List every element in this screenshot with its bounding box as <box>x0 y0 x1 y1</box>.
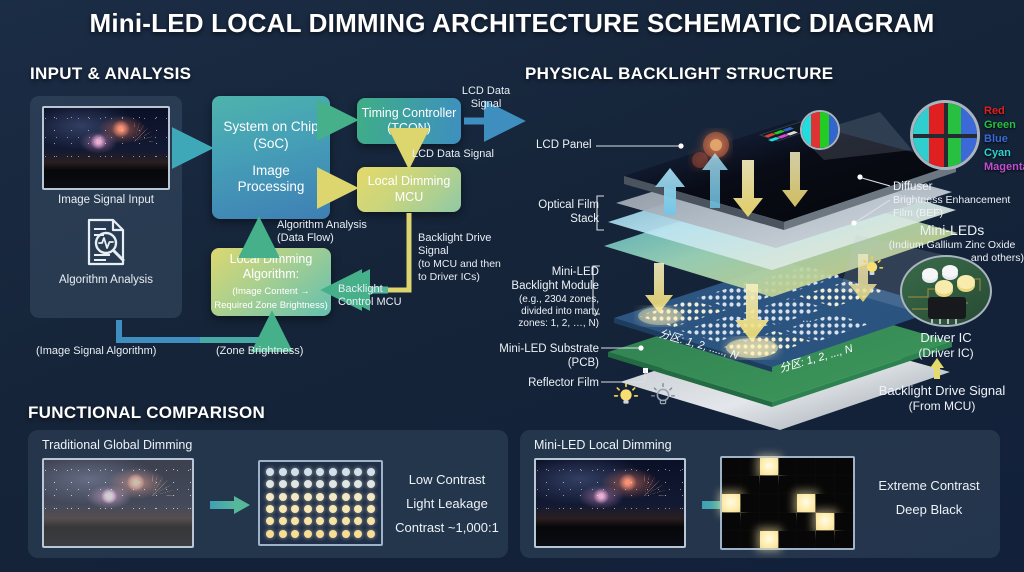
algorithm-analysis-icon <box>78 214 134 270</box>
global-led-dot <box>279 480 287 488</box>
local-led-cell <box>797 494 815 511</box>
lightbulb-on-icon <box>613 382 639 413</box>
local-led-cell <box>797 513 815 530</box>
global-led-dot <box>266 468 274 476</box>
label-reflector-film: Reflector Film <box>513 376 599 390</box>
local-led-cell <box>722 476 740 493</box>
global-led-dot <box>354 505 362 513</box>
local-led-cell <box>760 476 778 493</box>
local-led-cell <box>760 531 778 548</box>
local-led-cell <box>741 494 759 511</box>
local-led-cell <box>797 531 815 548</box>
comparison-title-local: Mini-LED Local Dimming <box>534 438 672 452</box>
global-led-dot <box>279 493 287 501</box>
subpixel-magnifier-large <box>910 100 980 170</box>
global-led-dot <box>266 517 274 525</box>
global-led-dot <box>342 517 350 525</box>
global-led-dot <box>304 480 312 488</box>
global-led-dot <box>291 468 299 476</box>
global-led-dot <box>304 505 312 513</box>
input-analysis-card: Image Signal Input Algorithm Analysis <box>30 96 182 318</box>
diagram-canvas: Mini-LED LOCAL DIMMING ARCHITECTURE SCHE… <box>0 0 1024 572</box>
global-led-dot <box>266 480 274 488</box>
global-led-dot <box>279 517 287 525</box>
global-led-dot <box>316 505 324 513</box>
global-led-dot <box>367 480 375 488</box>
local-led-cell <box>816 476 834 493</box>
global-led-dot <box>342 505 350 513</box>
global-led-dot <box>354 480 362 488</box>
local-led-cell <box>760 458 778 475</box>
page-title: Mini-LED LOCAL DIMMING ARCHITECTURE SCHE… <box>0 8 1024 39</box>
algo-line-3: (Image Content → <box>232 286 310 298</box>
local-led-cell <box>816 458 834 475</box>
global-led-dot <box>266 530 274 538</box>
global-led-dot <box>279 530 287 538</box>
global-led-dot <box>354 468 362 476</box>
global-led-dot <box>316 493 324 501</box>
local-led-cell <box>779 476 797 493</box>
local-led-cell <box>760 494 778 511</box>
global-led-dot <box>316 480 324 488</box>
global-dimming-led-grid <box>258 460 383 546</box>
comparison-results-local: Extreme Contrast Deep Black <box>864 474 994 522</box>
local-dimming-led-grid <box>720 456 855 550</box>
local-led-cell <box>835 458 853 475</box>
section-title-physical: PHYSICAL BACKLIGHT STRUCTURE <box>525 64 833 84</box>
label-diffuser: Diffuser <box>893 180 932 194</box>
global-led-dot <box>304 493 312 501</box>
local-led-cell <box>722 494 740 511</box>
global-led-dot <box>354 517 362 525</box>
algo-line-4: Required Zone Brightness) <box>214 300 328 312</box>
global-led-dot <box>354 493 362 501</box>
label-lcd-panel: LCD Panel <box>536 138 592 152</box>
global-led-dot <box>316 517 324 525</box>
comparison-card-global: Traditional Global Dimming Low Contrast … <box>28 430 508 558</box>
mcu-line-2: MCU <box>395 190 423 205</box>
zone-text-left: 分区: 1, 2, ....., N <box>657 325 740 363</box>
global-led-dot <box>367 530 375 538</box>
subpixel-magnifier-small <box>800 110 840 150</box>
global-led-dot <box>342 530 350 538</box>
local-led-cell <box>816 531 834 548</box>
local-led-cell <box>797 476 815 493</box>
soc-line-4: Processing <box>238 179 305 195</box>
local-led-cell <box>835 531 853 548</box>
global-led-dot <box>354 530 362 538</box>
legend-cyan: Cyan <box>984 146 1024 160</box>
zone-ellipsis-1: ... <box>738 330 748 344</box>
zone-ellipsis-2: ... <box>802 311 812 325</box>
comparison-thumbnail-local <box>534 458 686 548</box>
global-led-dot <box>316 468 324 476</box>
global-led-dot <box>266 505 274 513</box>
local-led-cell <box>835 513 853 530</box>
soc-line-3: Image <box>252 163 290 179</box>
label-optical-film-stack: Optical FilmStack <box>521 198 599 227</box>
box-timing-controller[interactable]: Timing Controller (TCON) <box>357 98 461 144</box>
section-title-input: INPUT & ANALYSIS <box>30 64 191 84</box>
image-signal-thumbnail <box>42 106 170 190</box>
label-mini-led-substrate: Mini-LED Substrate(PCB) <box>494 342 599 371</box>
comparison-thumbnail-global <box>42 458 194 548</box>
box-local-dimming-mcu[interactable]: Local Dimming MCU <box>357 167 461 212</box>
box-system-on-chip[interactable]: System on Chip (SoC) Image Processing <box>212 96 330 219</box>
legend-red: Red <box>984 104 1024 118</box>
local-led-cell <box>722 458 740 475</box>
legend-green: Green <box>984 118 1024 132</box>
global-led-dot <box>367 468 375 476</box>
global-led-dot <box>266 493 274 501</box>
local-led-cell <box>741 531 759 548</box>
global-led-dot <box>329 493 337 501</box>
local-led-cell <box>779 494 797 511</box>
soc-line-2: (SoC) <box>253 136 288 152</box>
label-backlight-drive-signal-from-mcu: Backlight Drive Signal (From MCU) <box>860 383 1024 414</box>
global-led-dot <box>279 468 287 476</box>
global-led-dot <box>329 468 337 476</box>
tcon-line-2: (TCON) <box>387 121 431 136</box>
section-title-functional: FUNCTIONAL COMPARISON <box>28 403 265 423</box>
global-led-dot <box>304 468 312 476</box>
local-led-cell <box>779 531 797 548</box>
global-led-dot <box>329 505 337 513</box>
zone-text-right: 分区: 1, 2, ..., N <box>777 340 854 376</box>
local-led-cell <box>797 458 815 475</box>
local-led-cell <box>835 494 853 511</box>
global-led-dot <box>291 530 299 538</box>
label-image-signal-algorithm: (Image Signal Algorithm) <box>36 345 156 358</box>
comparison-arrow-global <box>210 496 250 514</box>
label-brightness-enhancement-film: Brightness Enhancement Film (BEF) <box>893 194 1018 220</box>
box-local-dimming-algorithm[interactable]: Local Dimming Algorithm: (Image Content … <box>211 248 331 316</box>
image-signal-input-label: Image Signal Input <box>42 194 170 206</box>
global-led-dot <box>291 493 299 501</box>
label-mini-led-backlight-module: Mini-LED Backlight Module (e.g., 2304 zo… <box>492 265 599 331</box>
algo-line-2: Algorithm: <box>243 267 299 282</box>
local-led-cell <box>816 513 834 530</box>
label-mini-leds: Mini-LEDs (Indium Gallium Zinc Oxide and… <box>880 222 1024 265</box>
comparison-title-global: Traditional Global Dimming <box>42 438 192 452</box>
global-led-dot <box>329 480 337 488</box>
global-led-dot <box>329 530 337 538</box>
mcu-line-1: Local Dimming <box>368 174 451 189</box>
comparison-results-global: Low Contrast Light Leakage Contrast ~1,0… <box>388 468 506 540</box>
driver-ic-magnifier <box>900 255 992 327</box>
local-led-cell <box>722 531 740 548</box>
algo-line-1: Local Dimming <box>230 252 313 267</box>
local-led-cell <box>760 513 778 530</box>
global-led-dot <box>304 530 312 538</box>
local-led-cell <box>741 476 759 493</box>
global-led-dot <box>367 517 375 525</box>
soc-line-1: System on Chip <box>223 119 318 135</box>
lightbulb-off-icon <box>650 382 676 413</box>
global-led-dot <box>291 505 299 513</box>
local-led-cell <box>779 458 797 475</box>
global-led-dot <box>316 530 324 538</box>
subpixel-color-legend: Red Green Blue Cyan Magenta <box>984 104 1024 174</box>
local-led-cell <box>741 458 759 475</box>
backlight-drive-arrow-stem <box>934 367 940 379</box>
global-led-dot <box>342 468 350 476</box>
label-backlight-control-mcu: Backlight Control MCU <box>338 283 402 309</box>
local-led-cell <box>741 513 759 530</box>
global-led-dot <box>367 505 375 513</box>
local-led-cell <box>835 476 853 493</box>
global-led-dot <box>291 480 299 488</box>
global-led-dot <box>329 517 337 525</box>
global-led-dot <box>342 493 350 501</box>
legend-blue: Blue <box>984 132 1024 146</box>
label-algorithm-analysis-flow: Algorithm Analysis (Data Flow) <box>277 219 367 245</box>
comparison-card-local: Mini-LED Local Dimming Extreme Contrast … <box>520 430 1000 558</box>
global-led-dot <box>367 493 375 501</box>
label-lcd-data-signal-top: LCD Data Signal <box>455 85 517 111</box>
global-led-dot <box>342 480 350 488</box>
global-led-dot <box>304 517 312 525</box>
local-led-cell <box>816 494 834 511</box>
label-driver-ic: Driver IC (Driver IC) <box>900 330 992 361</box>
global-led-dot <box>279 505 287 513</box>
tcon-line-1: Timing Controller <box>362 106 457 121</box>
algorithm-analysis-label: Algorithm Analysis <box>38 274 174 286</box>
local-led-cell <box>722 513 740 530</box>
global-led-dot <box>291 517 299 525</box>
local-led-cell <box>779 513 797 530</box>
label-lcd-data-signal-mid: LCD Data Signal <box>412 148 494 161</box>
legend-magenta: Magenta <box>984 160 1024 174</box>
label-zone-brightness: (Zone Brightness) <box>216 345 303 358</box>
